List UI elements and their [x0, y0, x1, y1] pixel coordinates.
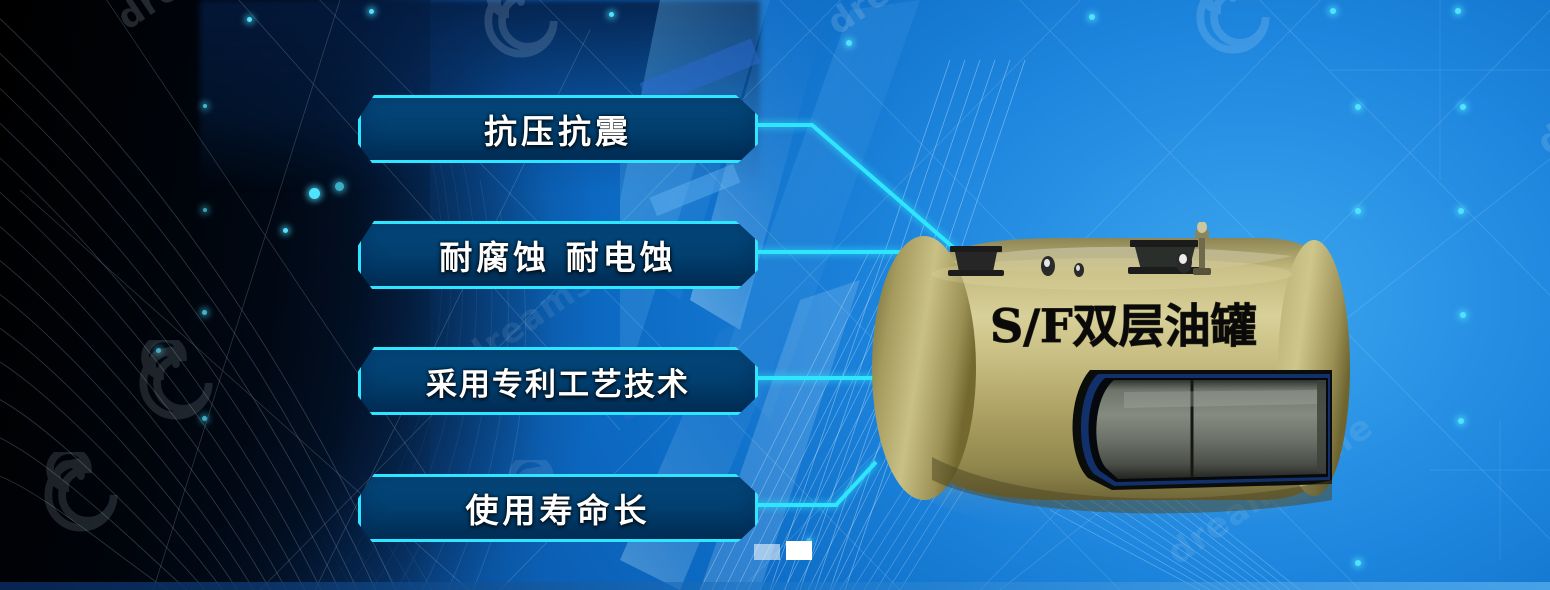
spiral-logo-icon — [133, 340, 219, 426]
spiral-logo-icon — [1190, 0, 1276, 60]
feature-badge-1[interactable]: 抗压抗震 — [358, 95, 758, 163]
fitting-highlight — [1179, 254, 1187, 264]
feature-badge-4-label: 使用寿命长 — [466, 484, 651, 532]
glow-dot — [1355, 208, 1361, 214]
oil-tank-illustration: S/F双层油罐 — [862, 222, 1352, 532]
feature-badge-4[interactable]: 使用寿命长 — [358, 474, 758, 542]
glow-dot — [1460, 104, 1466, 110]
spiral-logo-icon — [478, 0, 564, 64]
feature-badge-3[interactable]: 采用专利工艺技术 — [358, 347, 758, 415]
tank-brand-text: S/F双层油罐 — [990, 299, 1257, 353]
feature-badge-1-inner: 抗压抗震 — [361, 98, 755, 160]
glow-dot — [1330, 8, 1336, 14]
glow-dot — [283, 228, 288, 233]
glow-dot — [1455, 8, 1461, 14]
spiral-logo-icon — [38, 452, 124, 538]
glow-dot — [247, 17, 252, 22]
glow-dot — [369, 9, 374, 14]
glow-dot — [1355, 104, 1361, 110]
glow-dot — [203, 104, 207, 108]
glow-dot — [202, 310, 207, 315]
bottom-band — [0, 582, 1550, 590]
glow-dot — [1458, 418, 1464, 424]
feature-badge-2-label: 耐腐蚀 耐电蚀 — [439, 231, 677, 279]
tank-cutaway — [1073, 370, 1333, 490]
feature-badge-1-label: 抗压抗震 — [484, 105, 632, 153]
glow-dot — [609, 12, 614, 17]
glow-dot — [335, 182, 344, 191]
glow-dot — [1460, 312, 1466, 318]
glow-dot — [309, 188, 320, 199]
fitting-highlight — [1076, 265, 1080, 271]
glow-dot — [1089, 14, 1095, 20]
white-chip — [786, 541, 812, 560]
glow-dot — [203, 208, 207, 212]
feature-badge-3-label: 采用专利工艺技术 — [426, 359, 690, 404]
feature-badge-3-inner: 采用专利工艺技术 — [361, 350, 755, 412]
feature-badge-4-inner: 使用寿命长 — [361, 477, 755, 539]
oil-tank-product: S/F双层油罐 — [862, 222, 1352, 532]
white-chip — [754, 544, 780, 560]
glow-dot — [1355, 560, 1361, 566]
glow-dot — [846, 40, 852, 46]
fitting-highlight — [1044, 259, 1050, 267]
glow-dot — [1458, 208, 1464, 214]
banner-canvas: dreamstime dreamstime dreamstime dreamst… — [0, 0, 1550, 590]
feature-badge-2[interactable]: 耐腐蚀 耐电蚀 — [358, 221, 758, 289]
feature-badge-2-inner: 耐腐蚀 耐电蚀 — [361, 224, 755, 286]
